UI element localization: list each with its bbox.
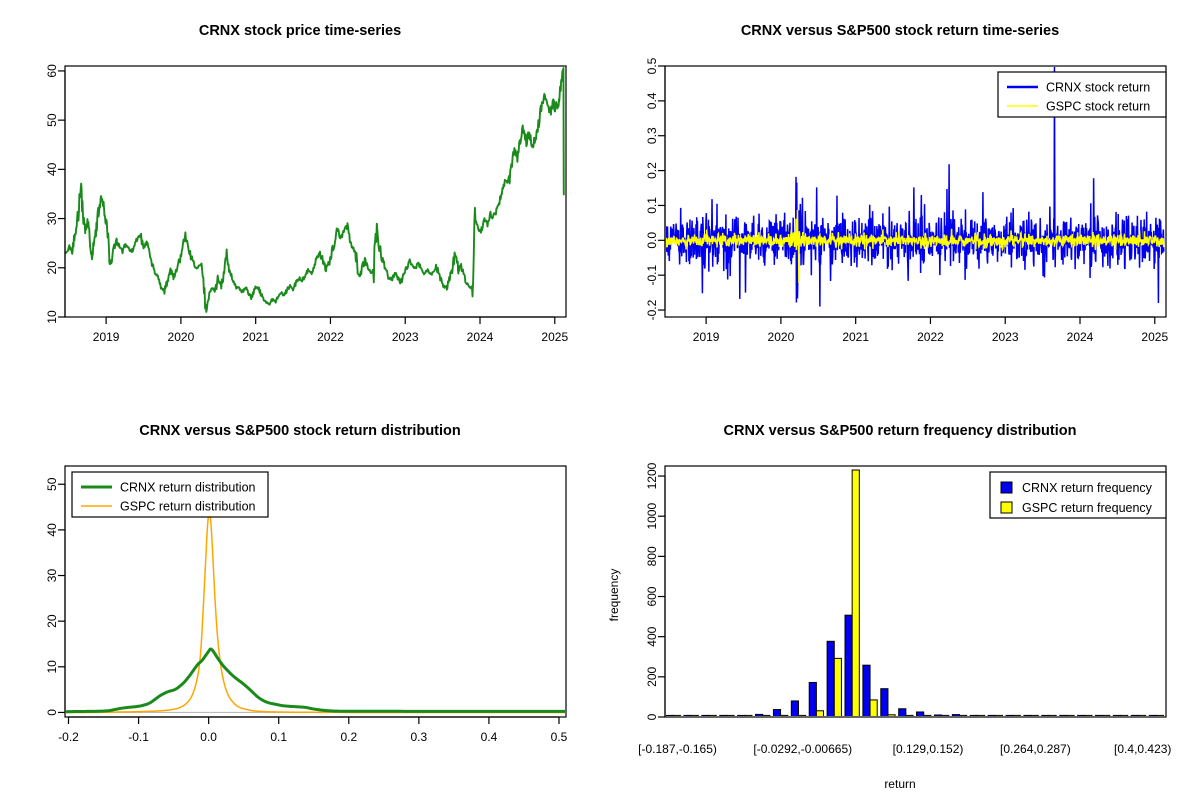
svg-text:10: 10 [45,310,59,324]
svg-text:600: 600 [645,586,659,606]
svg-text:0.4: 0.4 [645,92,659,109]
svg-text:0.3: 0.3 [645,127,659,144]
panel-br-legend[interactable]: CRNX return frequencyGSPC return frequen… [990,472,1166,518]
panel-crnx-vs-sp500-return-distribution: CRNX versus S&P500 stock return distribu… [0,400,600,800]
svg-text:2024: 2024 [1067,330,1094,344]
panel-bl-svg: CRNX versus S&P500 stock return distribu… [0,400,600,800]
svg-text:1200: 1200 [645,462,659,489]
svg-text:0: 0 [645,713,659,720]
svg-text:[0.4,0.423): [0.4,0.423) [1114,742,1171,756]
panel-tl-plot-area [66,68,564,312]
svg-text:0.2: 0.2 [645,162,659,179]
svg-text:0.5: 0.5 [645,57,659,74]
panel-br-xaxis-label: return [884,777,915,791]
svg-text:CRNX return distribution: CRNX return distribution [120,481,256,495]
svg-text:0.1: 0.1 [270,730,287,744]
panel-tl-title: CRNX stock price time-series [199,23,401,39]
svg-text:60: 60 [45,64,59,78]
svg-text:-0.2: -0.2 [645,299,659,320]
panel-tl-frame [65,66,566,317]
svg-text:400: 400 [645,626,659,646]
svg-text:0.4: 0.4 [481,730,498,744]
svg-text:CRNX return frequency: CRNX return frequency [1022,481,1153,495]
panel-br-title: CRNX versus S&P500 return frequency dist… [724,423,1077,439]
panel-tr-legend[interactable]: CRNX stock returnGSPC stock return [998,72,1166,117]
panel-crnx-vs-sp500-return-frequency: CRNX versus S&P500 return frequency dist… [600,400,1200,800]
svg-text:0.1: 0.1 [645,197,659,214]
panel-crnx-vs-sp500-return-timeseries: CRNX versus S&P500 stock return time-ser… [600,0,1200,400]
svg-text:GSPC return distribution: GSPC return distribution [120,500,256,514]
svg-text:20: 20 [45,614,59,628]
svg-text:50: 50 [45,477,59,491]
svg-text:-0.2: -0.2 [58,730,79,744]
panel-bl-legend[interactable]: CRNX return distributionGSPC return dist… [72,472,268,517]
svg-text:2024: 2024 [467,330,494,344]
svg-text:0.2: 0.2 [340,730,357,744]
panel-br-svg: CRNX versus S&P500 return frequency dist… [600,400,1200,800]
panel-bl-plot-area [65,511,566,712]
svg-text:2020: 2020 [768,330,795,344]
svg-text:[-0.0292,-0.00665): [-0.0292,-0.00665) [753,742,852,756]
svg-text:1000: 1000 [645,503,659,530]
panel-br-yaxis-label: frequency [607,569,621,622]
svg-text:2022: 2022 [917,330,944,344]
svg-text:[0.129,0.152): [0.129,0.152) [893,742,964,756]
svg-text:0.0: 0.0 [645,232,659,249]
svg-text:2025: 2025 [1141,330,1168,344]
svg-text:40: 40 [45,523,59,537]
svg-text:2021: 2021 [242,330,269,344]
svg-text:2025: 2025 [541,330,568,344]
svg-text:50: 50 [45,113,59,127]
panel-tr-title: CRNX versus S&P500 stock return time-ser… [741,23,1059,39]
panel-tl-axes: 1020304050602019202020212022202320242025 [45,64,568,344]
svg-text:30: 30 [45,569,59,583]
svg-text:GSPC return frequency: GSPC return frequency [1022,501,1153,515]
figure-canvas: CRNX stock price time-series 10203040506… [0,0,1200,800]
svg-text:0.5: 0.5 [551,730,568,744]
svg-text:0: 0 [45,709,59,716]
svg-text:-0.1: -0.1 [645,265,659,286]
svg-text:GSPC stock return: GSPC stock return [1046,100,1150,114]
panel-tl-svg: CRNX stock price time-series 10203040506… [0,0,600,400]
svg-text:2023: 2023 [992,330,1019,344]
svg-text:2019: 2019 [693,330,720,344]
svg-text:30: 30 [45,212,59,226]
svg-text:-0.1: -0.1 [128,730,149,744]
svg-text:0.0: 0.0 [200,730,217,744]
svg-text:800: 800 [645,546,659,566]
svg-text:200: 200 [645,667,659,687]
svg-text:20: 20 [45,261,59,275]
svg-text:[-0.187,-0.165): [-0.187,-0.165) [638,742,717,756]
svg-text:0.3: 0.3 [411,730,428,744]
svg-text:2019: 2019 [93,330,120,344]
panel-crnx-price-timeseries: CRNX stock price time-series 10203040506… [0,0,600,400]
svg-text:2023: 2023 [392,330,419,344]
svg-text:2022: 2022 [317,330,344,344]
svg-text:10: 10 [45,660,59,674]
svg-text:2020: 2020 [168,330,195,344]
svg-text:CRNX stock return: CRNX stock return [1046,81,1150,95]
svg-text:40: 40 [45,162,59,176]
svg-text:[0.264,0.287): [0.264,0.287) [1000,742,1071,756]
panel-bl-title: CRNX versus S&P500 stock return distribu… [139,423,461,439]
svg-text:2021: 2021 [842,330,869,344]
panel-tr-svg: CRNX versus S&P500 stock return time-ser… [600,0,1200,400]
